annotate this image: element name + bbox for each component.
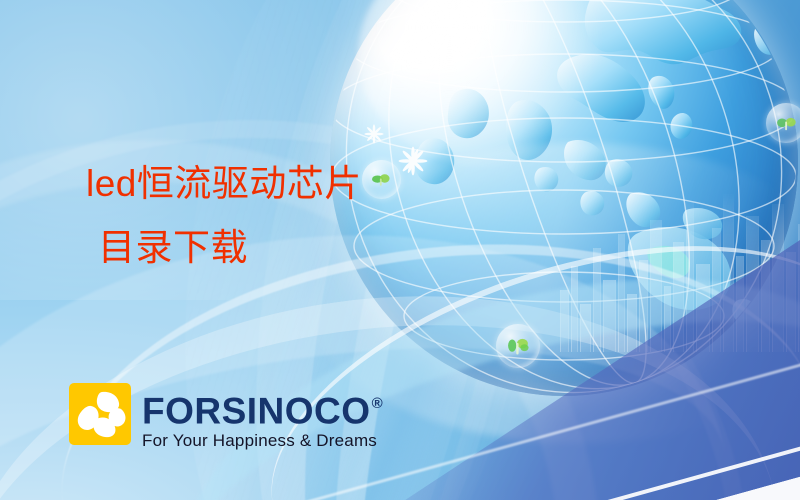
brand-logo: FORSINOCO® For Your Happiness & Dreams <box>69 383 382 451</box>
brand-logo-text: FORSINOCO® For Your Happiness & Dreams <box>142 383 382 451</box>
promo-banner: led恒流驱动芯片 目录下载 FORSINOCO® <box>0 0 800 500</box>
four-petal-pinwheel-icon <box>69 383 131 445</box>
bubble-sprout-center <box>496 324 540 368</box>
green-sprout-icon <box>369 167 393 191</box>
green-sprout-icon <box>774 111 799 136</box>
headline-line-2: 目录下载 <box>86 226 362 270</box>
white-sparkle-burst-large <box>398 146 428 176</box>
green-sprout-icon <box>504 332 531 359</box>
registered-trademark-mark: ® <box>372 395 384 412</box>
headline-line-1: led恒流驱动芯片 <box>86 162 362 206</box>
bubble-sprout-right <box>766 103 800 143</box>
headline-block: led恒流驱动芯片 目录下载 <box>86 162 362 270</box>
white-sparkle-burst-small <box>364 124 384 144</box>
brand-wordmark-text: FORSINOCO <box>142 390 371 431</box>
bubble-sprout-left <box>362 160 401 199</box>
brand-tagline: For Your Happiness & Dreams <box>142 431 382 451</box>
brand-wordmark: FORSINOCO® <box>142 387 382 430</box>
